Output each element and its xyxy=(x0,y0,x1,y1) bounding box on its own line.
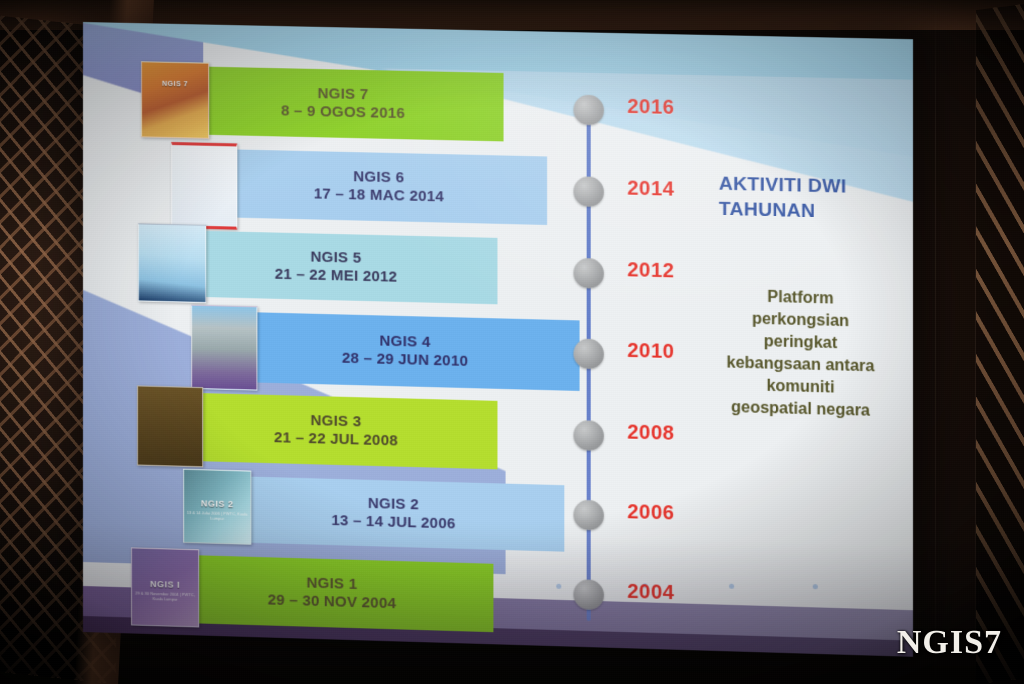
thumbnail-subtitle: 13 & 14 Julai 2006 | PWTC, Kuala Lumpur xyxy=(184,510,250,522)
timeline-node-2004[interactable] xyxy=(573,579,603,610)
wall-seam-2 xyxy=(975,0,976,684)
event-title: NGIS 5 xyxy=(311,248,362,268)
thumbnail-caption: NGIS 2 xyxy=(184,498,250,510)
event-thumbnail-ngis-3[interactable] xyxy=(137,385,203,467)
event-thumbnail-ngis-6[interactable] xyxy=(171,142,237,230)
timeline-node-2012[interactable] xyxy=(573,258,603,289)
event-title: NGIS 2 xyxy=(368,495,419,515)
event-title: NGIS 7 xyxy=(318,85,369,104)
event-bar-ngis-2[interactable]: NGIS 2 13 – 14 JUL 2006 xyxy=(223,476,564,552)
event-dates: 8 – 9 OGOS 2016 xyxy=(281,102,405,123)
timeline-year-2014: 2014 xyxy=(627,177,674,201)
timeline-node-2010[interactable] xyxy=(573,338,603,369)
event-bar-ngis-7[interactable]: NGIS 7 8 – 9 OGOS 2016 xyxy=(183,66,503,141)
event-dates: 17 – 18 MAC 2014 xyxy=(314,185,444,206)
event-dates: 29 – 30 NOV 2004 xyxy=(268,591,396,613)
wall-seam-1 xyxy=(935,0,936,684)
presentation-slide: NGIS 7 8 – 9 OGOS 2016 NGIS 7 NGIS 6 17 … xyxy=(83,22,913,657)
wooden-lattice-right xyxy=(976,3,1024,684)
event-bar-ngis-6[interactable]: NGIS 6 17 – 18 MAC 2014 xyxy=(211,149,547,225)
timeline-year-2004: 2004 xyxy=(627,581,674,606)
event-bar-ngis-4[interactable]: NGIS 4 28 – 29 JUN 2010 xyxy=(231,312,579,391)
slide-heading: AKTIVITI DWI TAHUNAN xyxy=(719,171,913,226)
event-dates: 21 – 22 JUL 2008 xyxy=(274,429,398,451)
event-thumbnail-ngis-4[interactable] xyxy=(191,305,257,391)
photo-watermark: NGIS7 xyxy=(897,624,1002,662)
thumbnail-subtitle: 29 & 30 November 2004 | PWTC, Kuala Lump… xyxy=(132,590,198,602)
timeline-year-2010: 2010 xyxy=(627,340,674,364)
thumbnail-caption: NGIS 7 xyxy=(142,80,208,88)
timeline-year-2006: 2006 xyxy=(627,501,674,526)
timeline-year-2016: 2016 xyxy=(627,96,674,120)
timeline-node-2008[interactable] xyxy=(573,420,603,451)
event-thumbnail-ngis-5[interactable] xyxy=(138,223,206,303)
event-thumbnail-ngis-7[interactable]: NGIS 7 xyxy=(141,61,209,139)
event-dates: 28 – 29 JUN 2010 xyxy=(342,350,468,372)
event-title: NGIS 3 xyxy=(311,412,362,432)
event-bar-ngis-1[interactable]: NGIS 1 29 – 30 NOV 2004 xyxy=(171,555,493,633)
screenshot-root: NGIS 7 8 – 9 OGOS 2016 NGIS 7 NGIS 6 17 … xyxy=(0,0,1024,684)
event-bar-ngis-5[interactable]: NGIS 5 21 – 22 MEI 2012 xyxy=(175,230,497,304)
slide-body-text: Platform perkongsian peringkat kebangsaa… xyxy=(688,285,913,425)
event-dates: 13 – 14 JUL 2006 xyxy=(331,512,455,534)
projection-screen: NGIS 7 8 – 9 OGOS 2016 NGIS 7 NGIS 6 17 … xyxy=(83,22,913,657)
timeline-node-2006[interactable] xyxy=(573,500,603,531)
timeline-year-2012: 2012 xyxy=(627,259,674,283)
event-dates: 21 – 22 MEI 2012 xyxy=(275,266,398,287)
thumbnail-caption: NGIS I xyxy=(132,578,198,590)
timeline-node-2014[interactable] xyxy=(573,176,603,207)
slide-heading-line-2: TAHUNAN xyxy=(719,197,913,227)
event-title: NGIS 6 xyxy=(353,168,404,188)
event-bar-ngis-3[interactable]: NGIS 3 21 – 22 JUL 2008 xyxy=(175,392,497,469)
timeline-year-2008: 2008 xyxy=(627,421,674,445)
timeline-node-2016[interactable] xyxy=(573,95,603,126)
event-title: NGIS 1 xyxy=(306,574,357,594)
event-thumbnail-ngis-2[interactable]: NGIS 2 13 & 14 Julai 2006 | PWTC, Kuala … xyxy=(183,469,251,545)
event-thumbnail-ngis-1[interactable]: NGIS I 29 & 30 November 2004 | PWTC, Kua… xyxy=(131,547,199,627)
event-title: NGIS 4 xyxy=(380,332,431,352)
